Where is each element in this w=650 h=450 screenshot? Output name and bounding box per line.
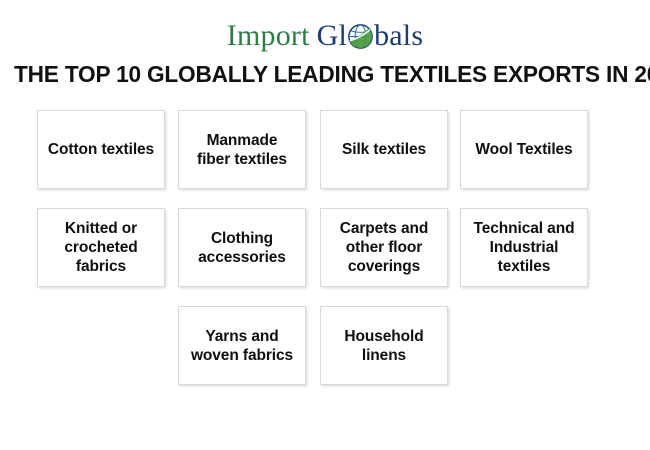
- category-box-label: Technical and Industrial textiles: [474, 219, 575, 276]
- category-box[interactable]: Technical and Industrial textiles: [460, 208, 588, 287]
- category-box-label: Household linens: [344, 327, 423, 365]
- category-box-label: Cotton textiles: [48, 140, 154, 159]
- category-box-label: Yarns and woven fabrics: [191, 327, 293, 365]
- category-box[interactable]: Wool Textiles: [460, 110, 588, 189]
- category-box-label: Wool Textiles: [475, 140, 572, 159]
- category-box[interactable]: Clothing accessories: [178, 208, 306, 287]
- category-box[interactable]: Yarns and woven fabrics: [178, 306, 306, 385]
- category-box-label: Carpets and other floor coverings: [340, 219, 428, 276]
- category-box[interactable]: Manmade fiber textiles: [178, 110, 306, 189]
- category-box[interactable]: Cotton textiles: [37, 110, 165, 189]
- infographic-page: ImportGl bals THE TOP 10 GLOBALLY LEADIN…: [0, 0, 650, 450]
- category-box-label: Silk textiles: [342, 140, 426, 159]
- category-box[interactable]: Household linens: [320, 306, 448, 385]
- category-box-label: Knitted or crocheted fabrics: [64, 219, 137, 276]
- category-box-label: Manmade fiber textiles: [197, 131, 287, 169]
- category-grid: Cotton textilesManmade fiber textilesSil…: [0, 0, 650, 450]
- category-box-label: Clothing accessories: [198, 229, 286, 267]
- category-box[interactable]: Knitted or crocheted fabrics: [37, 208, 165, 287]
- category-box[interactable]: Carpets and other floor coverings: [320, 208, 448, 287]
- category-box[interactable]: Silk textiles: [320, 110, 448, 189]
